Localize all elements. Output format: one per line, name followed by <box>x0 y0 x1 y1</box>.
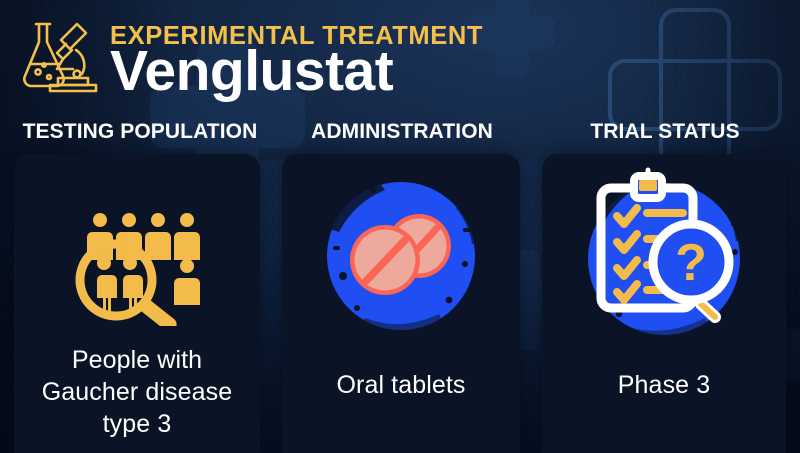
clipboard-question-icon: ? <box>573 164 755 346</box>
caption-line: People with <box>22 344 252 376</box>
column-heading-administration: ADMINISTRATION <box>282 120 522 144</box>
caption-testing-population: People with Gaucher disease type 3 <box>22 344 252 440</box>
caption-line: Gaucher disease <box>22 376 252 408</box>
header: EXPERIMENTAL TREATMENT Venglustat <box>0 0 800 112</box>
panel-administration: Oral tablets <box>282 154 520 453</box>
caption-administration: Oral tablets <box>290 369 512 401</box>
caption-trial-status: Phase 3 <box>550 369 778 401</box>
panel-testing-population: People with Gaucher disease type 3 <box>14 154 260 453</box>
infographic-canvas: EXPERIMENTAL TREATMENT Venglustat TESTIN… <box>0 0 800 453</box>
panel-trial-status: ? Phase 3 <box>542 154 786 453</box>
icon-slot <box>14 202 260 332</box>
caption-line: type 3 <box>22 408 252 440</box>
page-title: Venglustat <box>110 42 393 102</box>
svg-text:?: ? <box>675 234 707 292</box>
column-heading-trial-status: TRIAL STATUS <box>542 120 788 144</box>
flask-microscope-icon <box>14 16 100 98</box>
people-magnifier-icon <box>62 208 212 326</box>
two-tablets-icon <box>313 168 489 344</box>
caption-line: Phase 3 <box>550 369 778 401</box>
caption-line: Oral tablets <box>290 369 512 401</box>
icon-slot: ? <box>542 164 786 346</box>
column-heading-testing-population: TESTING POPULATION <box>6 120 274 144</box>
icon-slot <box>282 168 520 344</box>
